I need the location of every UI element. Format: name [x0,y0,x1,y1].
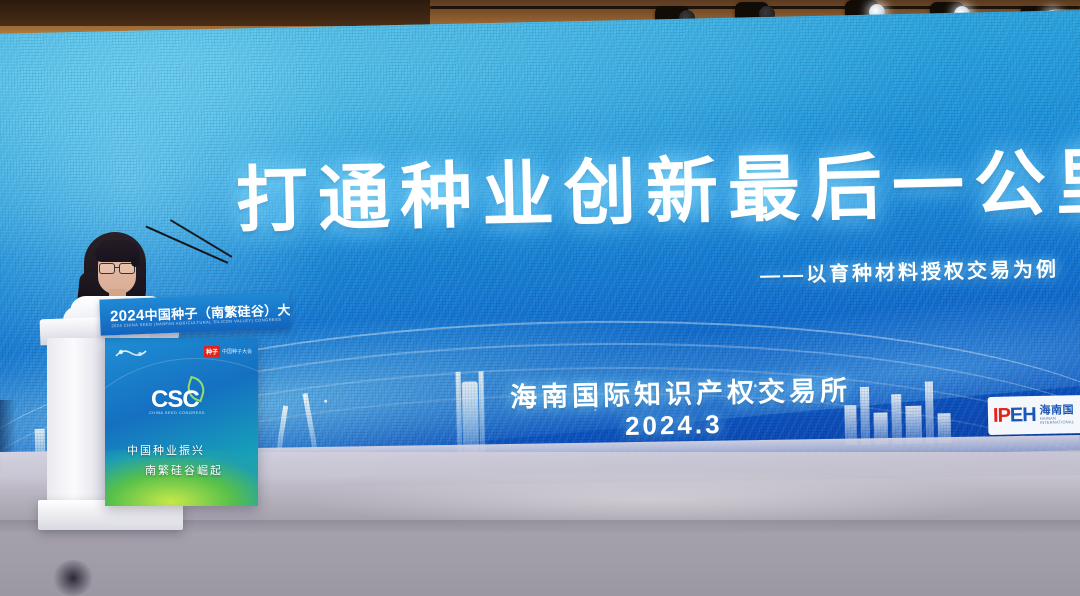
glasses-icon [99,263,135,272]
podium-banner: 2024中国种子（南繁硅谷）大会 2024 CHINA SEED (NANFAN… [99,292,290,335]
panel-badge-tag: 种子 [204,346,220,357]
panel-badge-left [114,346,148,360]
ipeh-cn-sub: HAINAN INTERNATIONAL [1040,415,1080,424]
seed-emblem-icon [114,346,148,360]
ipeh-eh-text: EH [1010,404,1036,427]
slide-headline: 打通种业创新最后一公里 [235,148,1046,237]
slide-date: 2024.3 [625,409,723,442]
microphone-head-icon [131,258,140,267]
ipeh-logo: IPEH 海南国 HAINAN INTERNATIONAL [988,395,1080,435]
panel-badge-sub: 中国种子大会 [222,348,252,355]
slide-organization: 海南国际知识产权交易所 [510,368,852,414]
podium-body [47,338,107,506]
ipeh-chinese-name: 海南国 HAINAN INTERNATIONAL [1040,404,1080,424]
stage-scene: 打通种业创新最后一公里 ——以育种材料授权交易为例 海南国际知识产权交易所 20… [0,0,1080,596]
panel-terrain-graphic [105,450,258,506]
ceiling-shadow [0,0,430,26]
csc-logo-subtext: CHINA SEED CONGRESS [149,410,205,415]
podium-front-panel: 种子 中国种子大会 CSC CHINA SEED CONGRESS 中国种业振兴… [105,338,258,506]
ipeh-wordmark: IPEH [993,405,1036,426]
podium-slogan-line-2: 南繁硅谷崛起 [145,462,223,478]
foreground-blur-object [52,560,94,596]
podium-slogan-line-1: 中国种业振兴 [127,442,205,458]
panel-badge-right: 种子 中国种子大会 [204,346,252,357]
ipeh-ip-text: IP [993,405,1010,427]
ipeh-cn-text: 海南国 [1040,404,1080,416]
